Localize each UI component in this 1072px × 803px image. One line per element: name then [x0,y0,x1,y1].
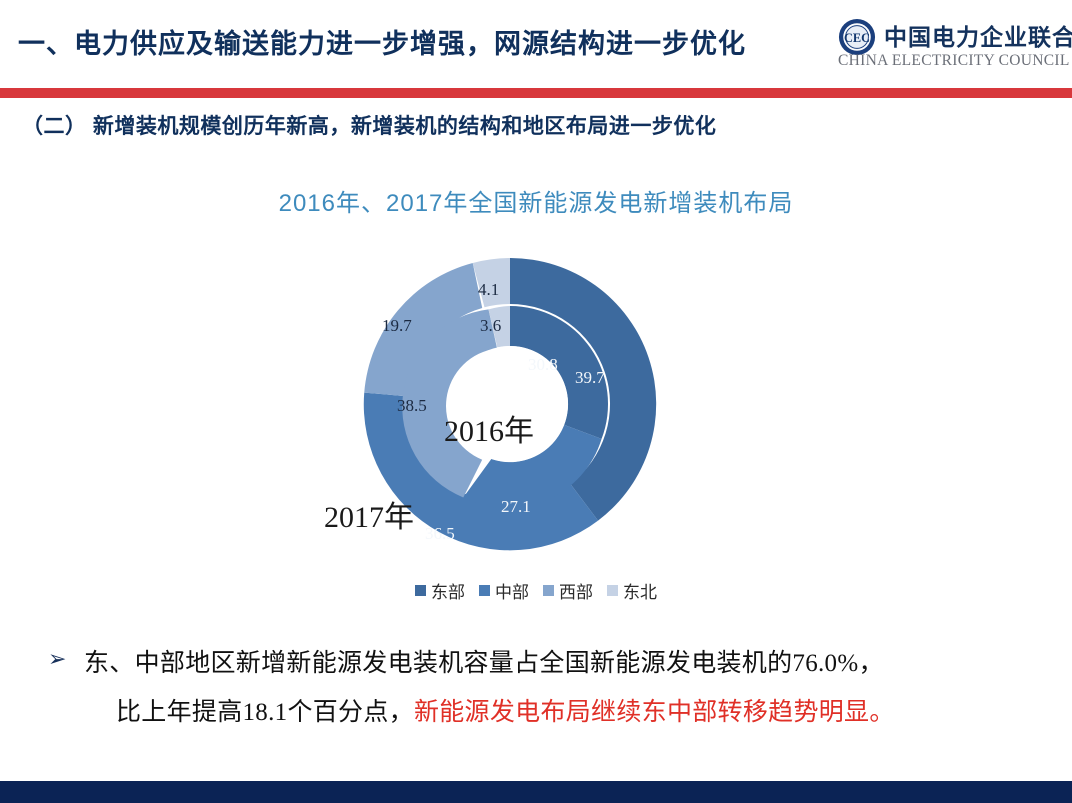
cec-seal-icon: CEC [838,18,876,56]
legend-label: 西部 [559,578,593,603]
org-name-en: CHINA ELECTRICITY COUNCIL [838,52,1070,70]
legend-item-zhongbu[interactable]: 中部 [479,578,529,603]
chart-legend: 东部 中部 西部 东北 [0,578,1072,603]
legend-swatch-icon [607,585,618,596]
outer-value-xibu: 19.7 [382,316,412,336]
legend-item-dongbei[interactable]: 东北 [607,578,657,603]
legend-item-dongbu[interactable]: 东部 [415,578,465,603]
donut-chart: 2016年 2017年 39.7 36.5 19.7 4.1 30.8 27.1… [292,258,732,578]
inner-value-xibu: 38.5 [397,396,427,416]
inner-ring-label: 2016年 [444,406,534,450]
legend-label: 东北 [623,578,657,603]
org-logo: CEC 中国电力企业联合会 CHINA ELECTRICITY COUNCIL [838,16,1066,78]
legend-swatch-icon [415,585,426,596]
legend-swatch-icon [479,585,490,596]
bullet-line-2: 比上年提高18.1个百分点，新能源发电布局继续东中部转移趋势明显。 [84,689,1004,738]
page-title: 一、电力供应及输送能力进一步增强，网源结构进一步优化 [18,22,746,61]
outer-value-dongbei: 4.1 [478,280,499,300]
bullet-line-1: 东、中部地区新增新能源发电装机容量占全国新能源发电装机的76.0%， [84,640,1004,689]
footer-bar [0,781,1072,803]
slide-root: 一、电力供应及输送能力进一步增强，网源结构进一步优化 CEC 中国电力企业联合会… [0,0,1072,803]
header-red-divider [0,88,1072,98]
legend-item-xibu[interactable]: 西部 [543,578,593,603]
inner-value-dongbu: 30.8 [528,355,558,375]
org-name-cn: 中国电力企业联合会 [884,18,1072,52]
bullet-line-1-text: 东、中部地区新增新能源发电装机容量占全国新能源发电装机的76.0%， [84,650,884,677]
bullet-line-2-text: 比上年提高18.1个百分点， [116,699,414,726]
bullet-block: ➢ 东、中部地区新增新能源发电装机容量占全国新能源发电装机的76.0%， 比上年… [84,640,1004,738]
slide-header: 一、电力供应及输送能力进一步增强，网源结构进一步优化 CEC 中国电力企业联合会… [0,0,1072,88]
bullet-arrow-icon: ➢ [48,648,66,670]
bullet-line-2-highlight: 新能源发电布局继续东中部转移趋势明显。 [414,699,895,726]
chart-title: 2016年、2017年全国新能源发电新增装机布局 [0,183,1072,218]
outer-value-dongbu: 39.7 [575,368,605,388]
legend-label: 东部 [431,578,465,603]
legend-label: 中部 [495,578,529,603]
outer-value-zhongbu: 36.5 [425,524,455,544]
section-subtitle: （二） 新增装机规模创历年新高，新增装机的结构和地区布局进一步优化 [22,110,716,140]
inner-value-dongbei: 3.6 [480,316,501,336]
legend-swatch-icon [543,585,554,596]
outer-ring-label: 2017年 [324,492,414,536]
inner-value-zhongbu: 27.1 [501,497,531,517]
svg-text:CEC: CEC [844,31,870,45]
